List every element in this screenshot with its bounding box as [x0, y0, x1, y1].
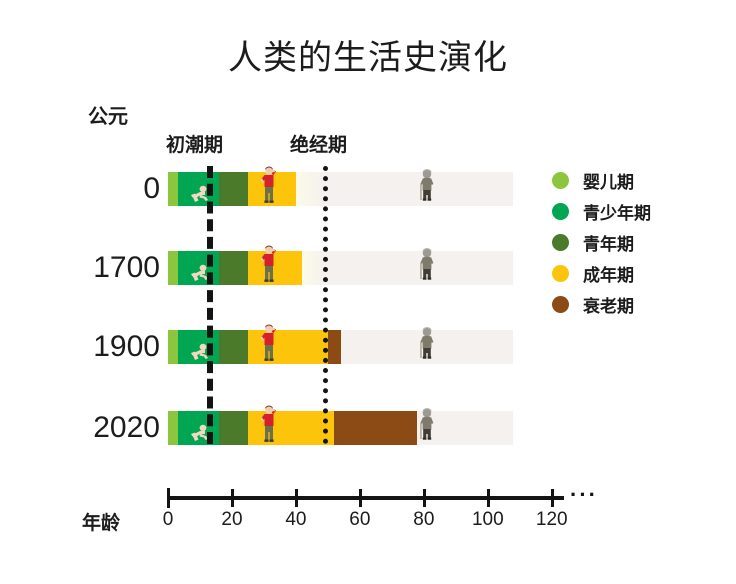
- row-year-label: 1700: [93, 253, 160, 283]
- legend-item-senescence[interactable]: 衰老期: [552, 290, 651, 318]
- chart-row: 1700: [168, 251, 513, 285]
- x-axis-tick-label: 120: [536, 509, 568, 531]
- stage-segment-infant: [168, 251, 178, 285]
- x-axis-tick: [487, 489, 490, 507]
- stage-segment-juvenile: [178, 251, 220, 285]
- x-axis-tick-label: 100: [472, 509, 504, 531]
- x-axis-tick: [295, 489, 298, 507]
- stage-segment-adult: [248, 172, 296, 206]
- stage-segment-infant: [168, 330, 178, 364]
- legend-swatch-icon: [552, 265, 569, 282]
- legend-swatch-icon: [552, 172, 569, 189]
- x-axis-tick: [423, 489, 426, 507]
- row-year-label: 0: [143, 174, 160, 204]
- axis-overflow-ellipsis: ···: [570, 482, 598, 508]
- legend-item-adolescent[interactable]: 青年期: [552, 228, 651, 256]
- stage-segment-adult: [248, 330, 328, 364]
- legend-label: 成年期: [583, 261, 634, 286]
- x-axis-tick-label: 0: [163, 509, 174, 531]
- x-axis-tick-label: 60: [349, 509, 370, 531]
- x-axis-tick-label: 80: [413, 509, 434, 531]
- legend-item-infant[interactable]: 婴儿期: [552, 166, 651, 194]
- x-axis-tick: [551, 489, 554, 507]
- lifespan-fade-segment: [296, 172, 325, 206]
- legend-swatch-icon: [552, 234, 569, 251]
- stage-segment-senescence: [334, 411, 417, 445]
- stage-segment-adult: [248, 411, 334, 445]
- legend-label: 婴儿期: [583, 168, 634, 193]
- menarche-marker-line: [207, 166, 213, 444]
- x-axis-tick: [167, 488, 170, 508]
- x-axis-tick-label: 20: [221, 509, 242, 531]
- stage-segment-infant: [168, 172, 178, 206]
- menopause-marker-line: [323, 166, 328, 444]
- x-axis-tick-label: 40: [285, 509, 306, 531]
- stage-segment-senescence: [328, 330, 341, 364]
- stage-segment-juvenile: [178, 172, 220, 206]
- stage-segment-adolescent: [219, 411, 248, 445]
- x-axis-tick: [231, 489, 234, 507]
- x-axis-tick: [359, 489, 362, 507]
- chart-row: 1900: [168, 330, 513, 364]
- legend-item-adult[interactable]: 成年期: [552, 259, 651, 287]
- legend-label: 衰老期: [583, 292, 634, 317]
- legend-label: 青年期: [583, 230, 634, 255]
- stage-segment-adolescent: [219, 330, 248, 364]
- legend-swatch-icon: [552, 296, 569, 313]
- stage-segment-adolescent: [219, 251, 248, 285]
- row-year-label: 1900: [93, 332, 160, 362]
- legend: 婴儿期青少年期青年期成年期衰老期: [552, 166, 651, 321]
- stage-segment-juvenile: [178, 330, 220, 364]
- legend-item-juvenile[interactable]: 青少年期: [552, 197, 651, 225]
- row-year-label: 2020: [93, 413, 160, 443]
- legend-label: 青少年期: [583, 199, 651, 224]
- legend-swatch-icon: [552, 203, 569, 220]
- chart-row: 0: [168, 172, 513, 206]
- chart-canvas: 人类的生活史演化 公元 年龄 初潮期 绝经期 0170019002020 020…: [0, 0, 736, 584]
- chart-row: 2020: [168, 411, 513, 445]
- stage-segment-juvenile: [178, 411, 220, 445]
- stage-segment-infant: [168, 411, 178, 445]
- x-axis-line: [168, 496, 564, 500]
- stage-segment-adult: [248, 251, 302, 285]
- stage-segment-adolescent: [219, 172, 248, 206]
